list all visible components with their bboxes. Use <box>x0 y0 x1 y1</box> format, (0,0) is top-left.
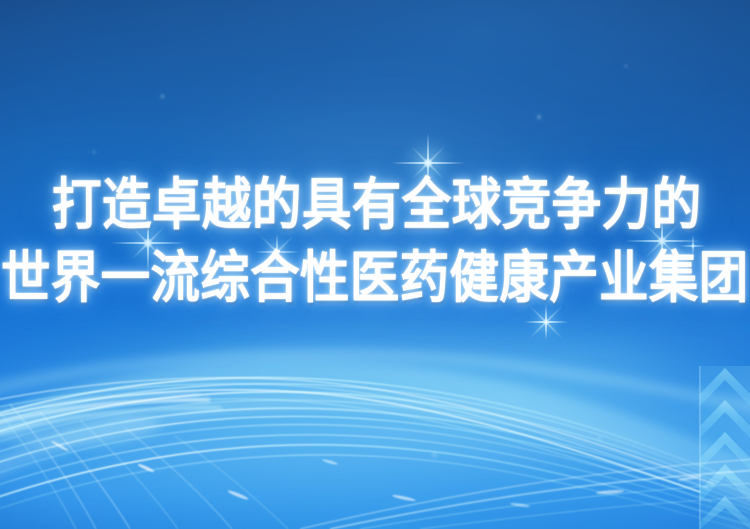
banner-canvas: 打造卓越的具有全球竞争力的 世界一流综合性医药健康产业集团 <box>0 0 750 529</box>
headline-line-1: 打造卓越的具有全球竞争力的 <box>52 178 702 234</box>
headline-block: 打造卓越的具有全球竞争力的 世界一流综合性医药健康产业集团 <box>0 0 750 529</box>
headline-line-2: 世界一流综合性医药健康产业集团 <box>1 251 749 307</box>
